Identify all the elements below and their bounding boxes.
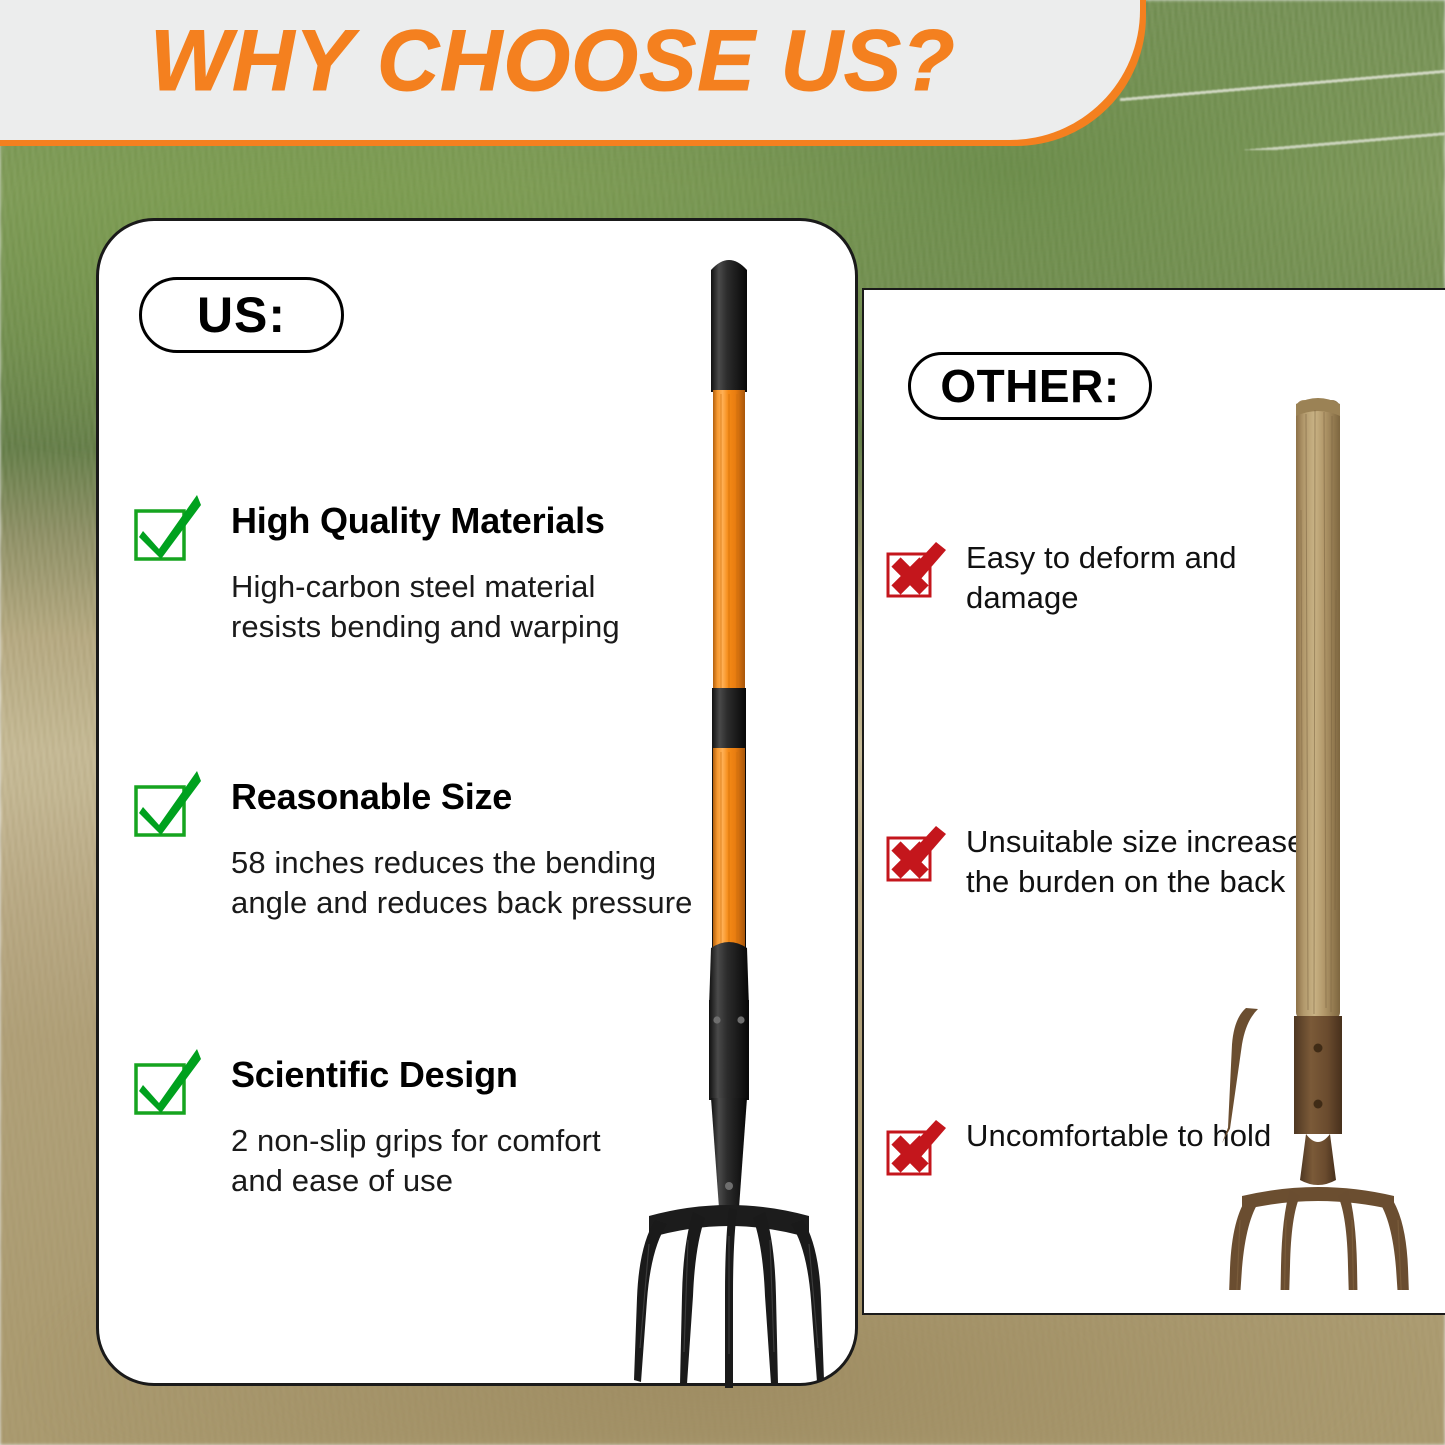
infographic-canvas: WHY CHOOSE US? OTHER: Easy to deform and…: [0, 0, 1445, 1445]
modern-pitchfork-image: [633, 248, 843, 1388]
red-x-box-icon: [886, 540, 948, 603]
us-feature-heading: Reasonable Size: [231, 777, 693, 817]
red-x-box-icon: [886, 824, 948, 887]
us-feature-text-group: Scientific Design 2 non-slip grips for c…: [231, 1055, 653, 1201]
red-x-box-icon: [886, 1118, 948, 1181]
us-feature-description: 2 non-slip grips for comfort and ease of…: [231, 1121, 653, 1202]
green-check-box-icon: [133, 491, 205, 568]
us-feature-item: Reasonable Size 58 inches reduces the be…: [133, 777, 693, 923]
old-wooden-pitchfork-image: [1218, 390, 1428, 1290]
us-badge: US:: [139, 277, 344, 353]
us-feature-description: High-carbon steel material resists bendi…: [231, 567, 693, 648]
green-check-box-icon: [133, 767, 205, 844]
us-feature-item: Scientific Design 2 non-slip grips for c…: [133, 1055, 653, 1201]
page-title: WHY CHOOSE US?: [150, 12, 956, 111]
background-wire-lines: [1120, 30, 1445, 150]
other-badge: OTHER:: [908, 352, 1152, 420]
us-feature-description: 58 inches reduces the bending angle and …: [231, 843, 693, 924]
us-feature-text-group: High Quality Materials High-carbon steel…: [231, 501, 693, 647]
us-feature-heading: Scientific Design: [231, 1055, 653, 1095]
green-check-box-icon: [133, 1045, 205, 1122]
us-feature-item: High Quality Materials High-carbon steel…: [133, 501, 693, 647]
us-feature-heading: High Quality Materials: [231, 501, 693, 541]
us-feature-text-group: Reasonable Size 58 inches reduces the be…: [231, 777, 693, 923]
